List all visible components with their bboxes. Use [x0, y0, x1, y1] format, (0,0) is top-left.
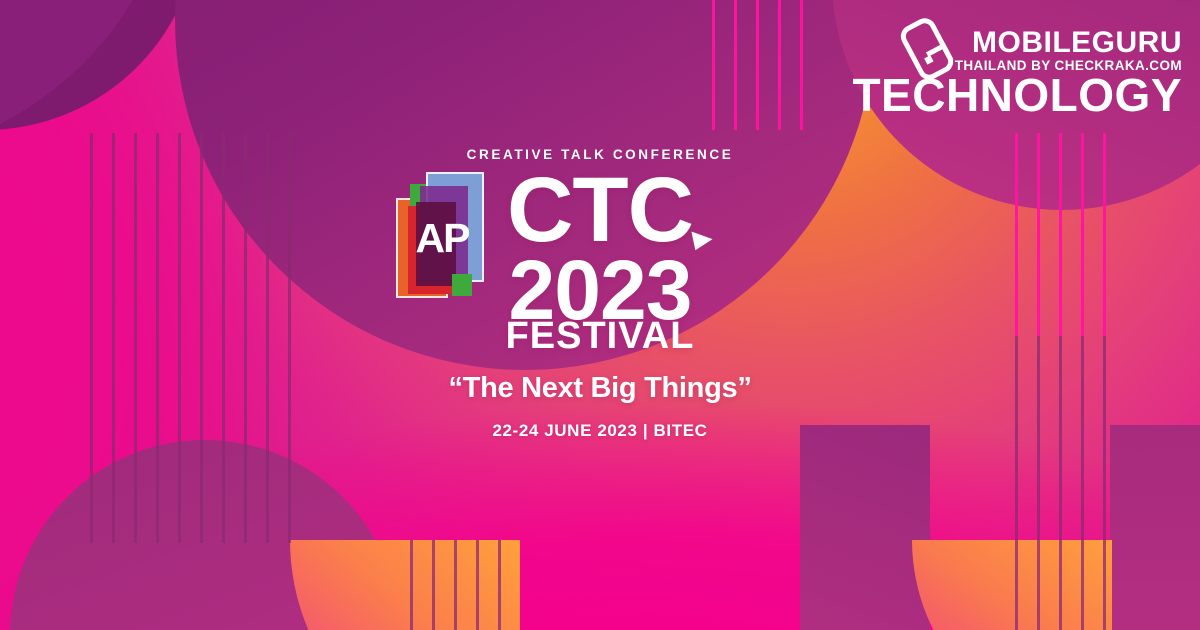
event-tagline: “The Next Big Things”: [448, 372, 751, 405]
event-date-venue: 22-24 JUNE 2023 | BITEC: [492, 421, 707, 441]
decor-vline: [498, 540, 501, 630]
decor-vline: [778, 0, 781, 130]
decor-vline: [800, 0, 803, 130]
decor-vline: [1081, 133, 1084, 336]
decor-vline: [410, 540, 413, 630]
decor-vline: [178, 133, 181, 543]
decor-vline: [1059, 336, 1062, 630]
brand-logo: MOBILEGURU THAILAND BY CHECKRAKA.COM TEC…: [892, 8, 1182, 120]
decor-vline: [244, 133, 247, 543]
decor-vline: [200, 133, 203, 543]
decor-vline: [1015, 336, 1018, 630]
decor-vline: [1059, 133, 1062, 336]
decor-vline: [1103, 133, 1106, 336]
decor-vline: [222, 133, 225, 543]
event-wordmark: CTC 2023: [507, 166, 693, 331]
decor-vline: [112, 133, 115, 543]
decor-vline: [1015, 133, 1018, 336]
ap-logo: AP: [396, 172, 488, 304]
decor-vline: [1037, 336, 1040, 630]
decor-vline: [288, 133, 291, 543]
decor-vline: [1037, 133, 1040, 336]
brand-name: MOBILEGURU: [972, 28, 1182, 58]
decor-vline: [134, 133, 137, 543]
decor-vline: [454, 540, 457, 630]
decor-vline: [734, 0, 737, 130]
ap-logo-text: AP: [396, 172, 488, 304]
decor-vline: [756, 0, 759, 130]
ctc-2023-festival-poster: AP CREATIVE TALK CONFERENCE CTC 2023 FES…: [0, 0, 1200, 630]
decor-vline: [712, 0, 715, 130]
brand-category: TECHNOLOGY: [852, 72, 1182, 118]
decor-vline: [90, 133, 93, 543]
decor-vline: [432, 540, 435, 630]
decor-vline: [1103, 336, 1106, 630]
decor-vline: [156, 133, 159, 543]
event-wordmark-line3: FESTIVAL: [506, 315, 695, 358]
decor-vline: [476, 540, 479, 630]
decor-vline: [1081, 336, 1084, 630]
decor-vline: [266, 133, 269, 543]
